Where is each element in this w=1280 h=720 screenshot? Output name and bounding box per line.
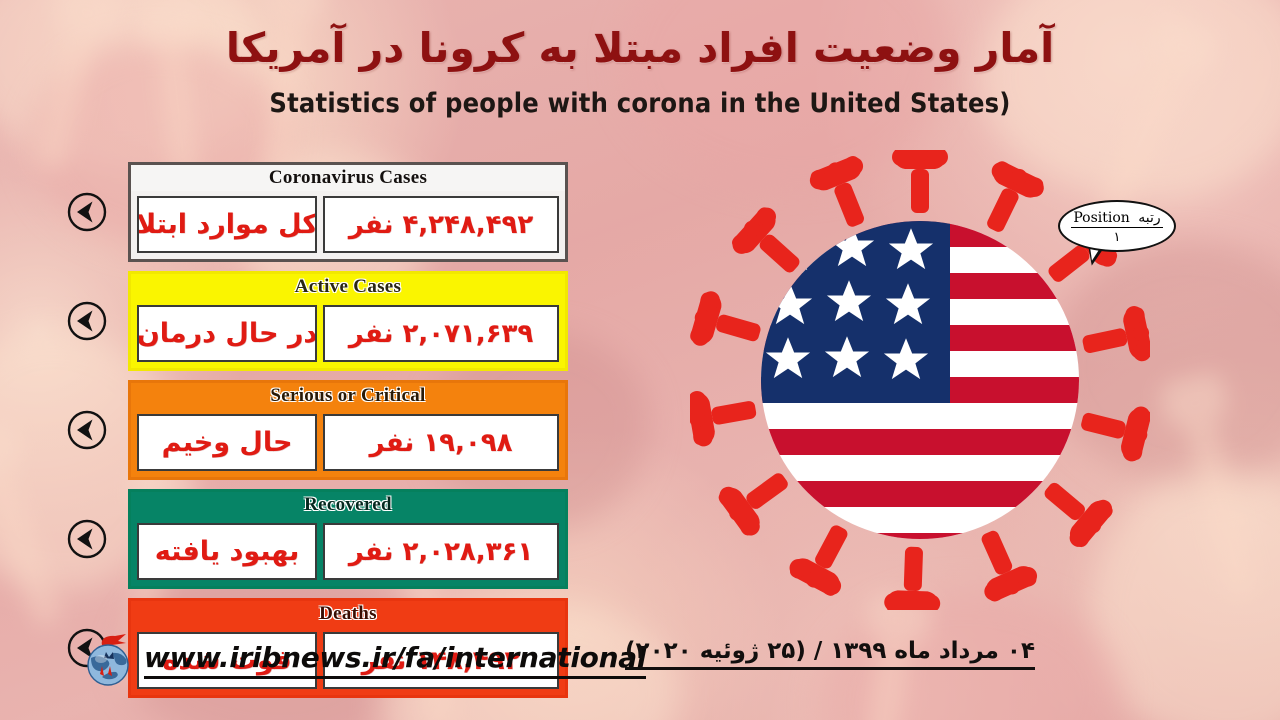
stat-row-recovered[interactable]: Recovered بهبود یافته ۲,۰۲۸,۳۶۱ نفر: [128, 489, 568, 589]
website-url[interactable]: www.iribnews.ir/fa/international: [144, 641, 646, 679]
position-label: رتبه Position: [1071, 211, 1162, 228]
stat-value-recovered: ۲,۰۲۸,۳۶۱ نفر: [349, 537, 534, 567]
stat-header-serious-or-critical: Serious or Critical: [131, 383, 565, 409]
footer-website[interactable]: www.iribnews.ir/fa/international: [82, 632, 646, 688]
position-callout-bubble: رتبه Position ۱: [1058, 200, 1176, 252]
stat-row-coronavirus-cases[interactable]: Coronavirus Cases کل موارد ابتلا ۴,۲۴۸,۴…: [128, 162, 568, 262]
stat-label-cell-active-cases: در حال درمان: [137, 305, 317, 362]
stat-label-cell-coronavirus-cases: کل موارد ابتلا: [137, 196, 317, 253]
stat-label-cell-serious-or-critical: حال وخیم: [137, 414, 317, 471]
stat-value-active-cases: ۲,۰۷۱,۶۳۹ نفر: [349, 319, 534, 349]
stat-value-cell-active-cases: ۲,۰۷۱,۶۳۹ نفر: [323, 305, 559, 362]
stat-label-coronavirus-cases: کل موارد ابتلا: [137, 209, 317, 240]
statistics-panel: Coronavirus Cases کل موارد ابتلا ۴,۲۴۸,۴…: [128, 162, 568, 707]
stat-label-serious-or-critical: حال وخیم: [162, 427, 293, 458]
stat-label-cell-recovered: بهبود یافته: [137, 523, 317, 580]
stat-header-recovered: Recovered: [131, 492, 565, 518]
stat-value-cell-recovered: ۲,۰۲۸,۳۶۱ نفر: [323, 523, 559, 580]
stat-row-active-cases[interactable]: Active Cases در حال درمان ۲,۰۷۱,۶۳۹ نفر: [128, 271, 568, 371]
left-arrow-circle-icon[interactable]: [66, 191, 108, 233]
stat-label-recovered: بهبود یافته: [155, 536, 300, 567]
stat-value-coronavirus-cases: ۴,۲۴۸,۴۹۲ نفر: [349, 210, 534, 240]
left-arrow-circle-icon[interactable]: [66, 300, 108, 342]
stat-value-serious-or-critical: ۱۹,۰۹۸ نفر: [370, 428, 513, 458]
position-label-fa: رتبه: [1138, 210, 1160, 226]
position-label-en: Position: [1073, 210, 1130, 226]
iribnews-globe-logo: [82, 632, 134, 688]
publication-date: ۰۴ مرداد ماه ۱۳۹۹ / (۲۵ ژوئیه ۲۰۲۰): [625, 638, 1035, 670]
stat-value-cell-serious-or-critical: ۱۹,۰۹۸ نفر: [323, 414, 559, 471]
stat-header-active-cases: Active Cases: [131, 274, 565, 300]
infographic-canvas: آمار وضعیت افراد مبتلا به کرونا در آمریک…: [0, 0, 1280, 720]
stat-header-coronavirus-cases: Coronavirus Cases: [131, 165, 565, 191]
position-value: ۱: [1114, 228, 1121, 244]
page-title-persian: آمار وضعیت افراد مبتلا به کرونا در آمریک…: [0, 26, 1280, 72]
stat-header-deaths: Deaths: [131, 601, 565, 627]
stat-value-cell-coronavirus-cases: ۴,۲۴۸,۴۹۲ نفر: [323, 196, 559, 253]
page-title-english: Statistics of people with corona in the …: [0, 88, 1280, 119]
stat-row-serious-or-critical[interactable]: Serious or Critical حال وخیم ۱۹,۰۹۸ نفر: [128, 380, 568, 480]
stat-label-active-cases: در حال درمان: [137, 318, 317, 349]
left-arrow-circle-icon[interactable]: [66, 409, 108, 451]
left-arrow-circle-icon[interactable]: [66, 518, 108, 560]
